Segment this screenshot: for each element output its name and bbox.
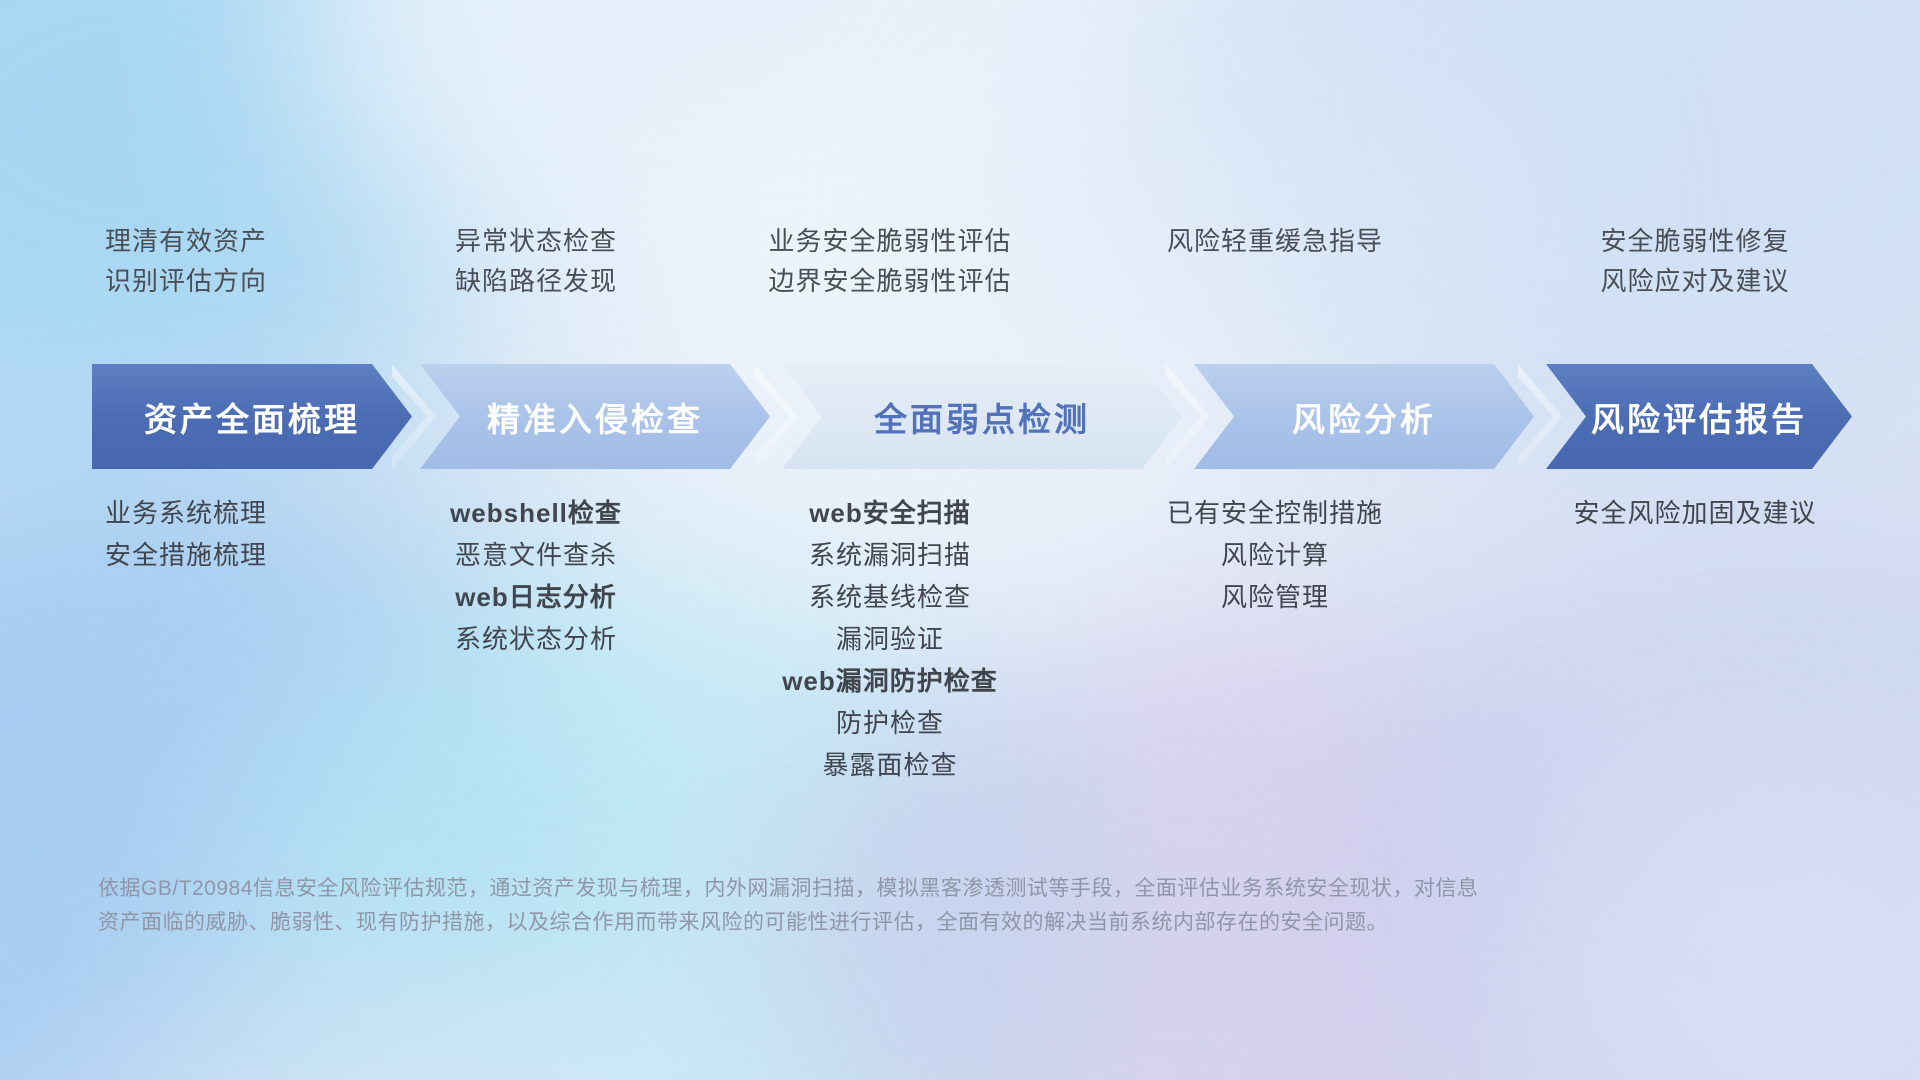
- chevron-label: 风险评估报告: [1591, 393, 1807, 441]
- list-item: web安全扫描: [809, 500, 971, 526]
- top-line: 业务安全脆弱性评估: [768, 228, 1011, 254]
- top-line: 安全脆弱性修复: [1600, 228, 1789, 254]
- list-item: 已有安全控制措施: [1167, 500, 1383, 526]
- bottom-col-risk-report: 安全风险加固及建议: [1470, 500, 1920, 778]
- list-item: 系统状态分析: [455, 626, 617, 652]
- list-item: 风险管理: [1221, 584, 1329, 610]
- top-line: 识别评估方向: [105, 268, 267, 294]
- list-item: web日志分析: [455, 584, 617, 610]
- list-item: 系统基线检查: [809, 584, 971, 610]
- footer-description: 依据GB/T20984信息安全风险评估规范，通过资产发现与梳理，内外网漏洞扫描，…: [98, 872, 1638, 940]
- bottom-col-risk-analysis: 已有安全控制措施 风险计算 风险管理: [1080, 500, 1470, 778]
- stage-bottom-items: 业务系统梳理 安全措施梳理 webshell检查 恶意文件查杀 web日志分析 …: [0, 500, 1920, 778]
- list-item: 安全风险加固及建议: [1573, 500, 1816, 526]
- footer-line-2: 资产面临的威胁、脆弱性、现有防护措施，以及综合作用而带来风险的可能性进行评估，全…: [98, 906, 1638, 940]
- chevron-label: 全面弱点检测: [874, 393, 1090, 441]
- list-item: 安全措施梳理: [105, 542, 267, 568]
- stage-top-descriptions: 理清有效资产 识别评估方向 异常状态检查 缺陷路径发现 业务安全脆弱性评估 边界…: [0, 228, 1920, 338]
- bottom-col-weakness-detection: web安全扫描 系统漏洞扫描 系统基线检查 漏洞验证 web漏洞防护检查 防护检…: [700, 500, 1080, 778]
- top-col-asset-inventory: 理清有效资产 识别评估方向: [0, 228, 372, 338]
- list-item: 系统漏洞扫描: [809, 542, 971, 568]
- top-line: 缺陷路径发现: [455, 268, 617, 294]
- bottom-col-asset-inventory: 业务系统梳理 安全措施梳理: [0, 500, 372, 778]
- chevron-intrusion-check[interactable]: 精准入侵检查: [420, 364, 770, 469]
- top-line: 风险应对及建议: [1600, 268, 1789, 294]
- list-item: webshell检查: [450, 500, 622, 526]
- top-line: 风险轻重缓急指导: [1167, 228, 1383, 254]
- list-item: web漏洞防护检查: [782, 668, 998, 694]
- infographic-stage: 理清有效资产 识别评估方向 异常状态检查 缺陷路径发现 业务安全脆弱性评估 边界…: [0, 0, 1920, 1080]
- top-line: 理清有效资产: [105, 228, 267, 254]
- chevron-weakness-detection[interactable]: 全面弱点检测: [782, 364, 1182, 469]
- chevron-label: 资产全面梳理: [144, 393, 360, 441]
- top-col-risk-analysis: 风险轻重缓急指导: [1080, 228, 1470, 338]
- top-line: 边界安全脆弱性评估: [768, 268, 1011, 294]
- top-col-weakness-detection: 业务安全脆弱性评估 边界安全脆弱性评估: [700, 228, 1080, 338]
- list-item: 风险计算: [1221, 542, 1329, 568]
- list-item: 恶意文件查杀: [455, 542, 617, 568]
- chevron-risk-report[interactable]: 风险评估报告: [1546, 364, 1852, 469]
- bottom-col-intrusion-check: webshell检查 恶意文件查杀 web日志分析 系统状态分析: [372, 500, 700, 778]
- top-line: 异常状态检查: [455, 228, 617, 254]
- list-item: 漏洞验证: [836, 626, 944, 652]
- stage-chevron-band: 资产全面梳理 精准入侵检查 全面弱点检测 风险分析 风险评估报告: [92, 364, 1852, 469]
- chevron-asset-inventory[interactable]: 资产全面梳理: [92, 364, 412, 469]
- top-col-risk-report: 安全脆弱性修复 风险应对及建议: [1470, 228, 1920, 338]
- list-item: 业务系统梳理: [105, 500, 267, 526]
- chevron-label: 风险分析: [1292, 393, 1436, 441]
- list-item: 防护检查: [836, 710, 944, 736]
- footer-line-1: 依据GB/T20984信息安全风险评估规范，通过资产发现与梳理，内外网漏洞扫描，…: [98, 872, 1638, 906]
- list-item: 暴露面检查: [822, 752, 957, 778]
- chevron-label: 精准入侵检查: [487, 393, 703, 441]
- top-col-intrusion-check: 异常状态检查 缺陷路径发现: [372, 228, 700, 338]
- chevron-risk-analysis[interactable]: 风险分析: [1194, 364, 1534, 469]
